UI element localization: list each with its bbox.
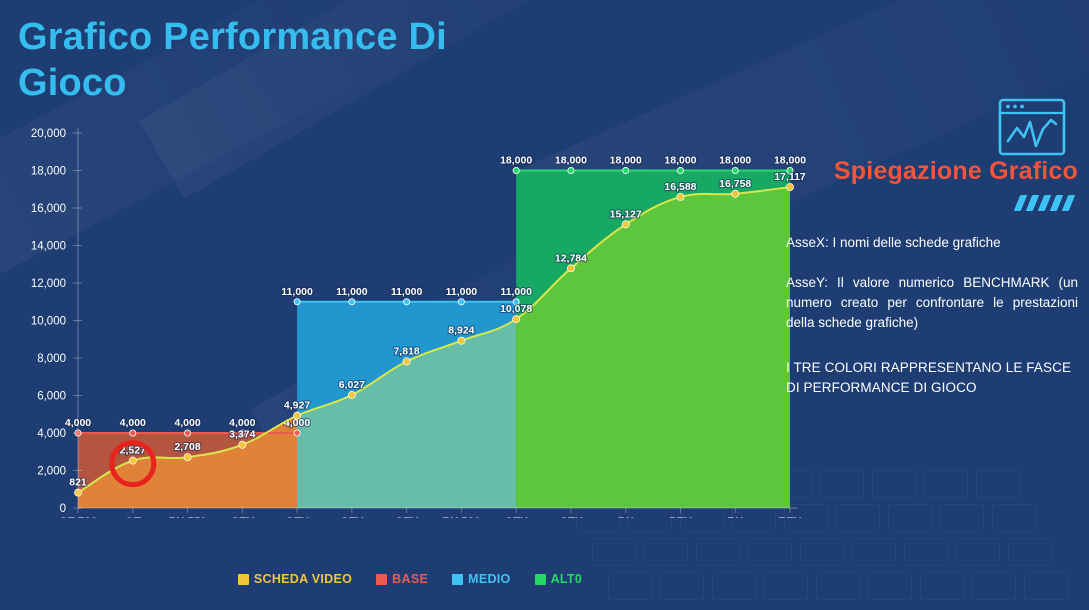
slash-mark — [1014, 195, 1027, 211]
background-key — [904, 538, 948, 566]
y-axis-label: 8,000 — [37, 353, 66, 365]
x-axis-label: RX 550 — [168, 517, 206, 518]
legend-label: MEDIO — [468, 572, 510, 586]
background-key — [836, 504, 880, 532]
data-point — [622, 221, 629, 228]
performance-chart: 4,0004,0004,0004,0004,00011,00011,00011,… — [0, 118, 820, 518]
band-value-label: 18,000 — [555, 155, 587, 167]
y-axis-label: 12,000 — [31, 278, 66, 290]
x-axis-label: RTX — [669, 517, 692, 518]
band-value-label: 4,000 — [120, 417, 146, 429]
band-point — [732, 167, 738, 173]
legend-item-base[interactable]: BASE — [376, 572, 428, 586]
band-value-label: 4,000 — [174, 417, 200, 429]
data-point — [348, 391, 355, 398]
y-axis-label: 6,000 — [37, 391, 66, 403]
panel-paragraph-axis-y: AsseY: Il valore numerico BENCHMARK (un … — [786, 273, 1078, 334]
y-axis-label: 16,000 — [31, 203, 66, 215]
background-key — [976, 470, 1020, 498]
slash-mark — [1050, 195, 1063, 211]
background-key — [920, 572, 964, 600]
background-key — [592, 538, 636, 566]
legend-swatch-icon — [238, 574, 249, 585]
data-value-label: 4,927 — [284, 400, 310, 412]
legend-item-scheda-video[interactable]: SCHEDA VIDEO — [238, 572, 352, 586]
panel-paragraph-axis-x: AsseX: I nomi delle schede grafiche — [786, 233, 1078, 253]
background-key — [956, 538, 1000, 566]
band-point — [677, 167, 683, 173]
background-key — [820, 470, 864, 498]
background-key — [972, 572, 1016, 600]
background-key — [992, 504, 1036, 532]
band-value-label: 11,000 — [500, 286, 532, 298]
background-key — [852, 538, 896, 566]
band-point — [623, 167, 629, 173]
band-value-label: 11,000 — [336, 286, 368, 298]
panel-paragraph-colors: I TRE COLORI RAPPRESENTANO LE FASCE DI P… — [786, 358, 1078, 399]
legend-swatch-icon — [452, 574, 463, 585]
legend-swatch-icon — [535, 574, 546, 585]
x-axis-label: GT — [125, 517, 141, 518]
background-key — [644, 538, 688, 566]
band-value-label: 11,000 — [391, 286, 423, 298]
data-point — [458, 337, 465, 344]
data-value-label: 12,784 — [555, 252, 587, 264]
band-value-label: 18,000 — [500, 155, 532, 167]
data-value-label: 3,374 — [229, 429, 255, 441]
data-value-label: 16,758 — [719, 178, 751, 190]
band-point — [349, 299, 355, 305]
band-point — [130, 430, 136, 436]
band-point — [568, 167, 574, 173]
background-key — [1008, 538, 1052, 566]
data-point — [293, 412, 300, 419]
background-key — [748, 538, 792, 566]
data-point — [403, 358, 410, 365]
band-point — [513, 167, 519, 173]
background-key — [696, 538, 740, 566]
data-value-label: 15,127 — [610, 208, 642, 220]
data-point — [184, 454, 191, 461]
y-axis-label: 4,000 — [37, 428, 66, 440]
y-axis-label: 2,000 — [37, 466, 66, 478]
legend-item-medio[interactable]: MEDIO — [452, 572, 510, 586]
data-value-label: 2,708 — [174, 441, 200, 453]
data-point — [567, 265, 574, 272]
band-value-label: 4,000 — [229, 417, 255, 429]
data-point — [513, 315, 520, 322]
y-axis-label: 10,000 — [31, 316, 66, 328]
y-axis-label: 18,000 — [31, 166, 66, 178]
background-key — [924, 470, 968, 498]
x-axis-label: GTX — [340, 517, 364, 518]
legend-label: BASE — [392, 572, 428, 586]
x-axis-label: RX — [618, 517, 634, 518]
slash-mark — [1038, 195, 1051, 211]
x-axis-label: GT 730 — [59, 517, 97, 518]
chart-legend: SCHEDA VIDEOBASEMEDIOALT0 — [0, 572, 820, 586]
data-value-label: 8,924 — [448, 325, 474, 337]
data-value-label: 6,027 — [339, 379, 365, 391]
x-axis-label: RX 580 — [442, 517, 480, 518]
x-axis-label: GTX — [504, 517, 528, 518]
band-point — [458, 299, 464, 305]
data-point — [732, 190, 739, 197]
data-value-label: 7,818 — [393, 345, 419, 357]
slash-divider — [786, 195, 1072, 211]
page-title: Grafico Performance Di Gioco — [18, 14, 578, 107]
band-point — [294, 299, 300, 305]
legend-swatch-icon — [376, 574, 387, 585]
slash-mark — [1062, 195, 1075, 211]
background-key — [1024, 572, 1068, 600]
x-axis-label: GTX — [230, 517, 254, 518]
band-value-label: 11,000 — [446, 286, 478, 298]
background-key — [872, 470, 916, 498]
x-axis-label: GTX — [559, 517, 583, 518]
data-point — [129, 457, 136, 464]
x-axis-label: GTX — [285, 517, 309, 518]
legend-item-alt0[interactable]: ALT0 — [535, 572, 583, 586]
legend-label: SCHEDA VIDEO — [254, 572, 352, 586]
chart-window-icon — [996, 96, 1068, 158]
y-axis-label: 14,000 — [31, 241, 66, 253]
y-axis-label: 20,000 — [31, 128, 66, 140]
band-point — [404, 299, 410, 305]
slash-mark — [1026, 195, 1039, 211]
band-value-label: 11,000 — [281, 286, 313, 298]
background-key — [816, 572, 860, 600]
y-axis-label: 0 — [60, 503, 66, 515]
page-title-line-2: Gioco — [18, 60, 578, 106]
background-key — [800, 538, 844, 566]
band-value-label: 18,000 — [719, 155, 751, 167]
data-point — [677, 193, 684, 200]
chart-canvas: 4,0004,0004,0004,0004,00011,00011,00011,… — [0, 118, 820, 518]
legend-label: ALT0 — [551, 572, 583, 586]
background-key — [940, 504, 984, 532]
data-value-label: 10,078 — [500, 303, 532, 315]
data-value-label: 16,588 — [664, 181, 696, 193]
background-key — [868, 572, 912, 600]
x-axis-label: RX — [727, 517, 743, 518]
page-title-line-1: Grafico Performance Di — [18, 14, 578, 60]
band-point — [184, 430, 190, 436]
x-axis-label: GTX — [395, 517, 419, 518]
band-value-label: 18,000 — [610, 155, 642, 167]
explanation-panel: Spiegazione Grafico AsseX: I nomi delle … — [786, 96, 1078, 398]
x-axis-label: RTX — [779, 517, 802, 518]
band-value-label: 18,000 — [664, 155, 696, 167]
band-point — [294, 430, 300, 436]
data-point — [239, 441, 246, 448]
background-key — [888, 504, 932, 532]
